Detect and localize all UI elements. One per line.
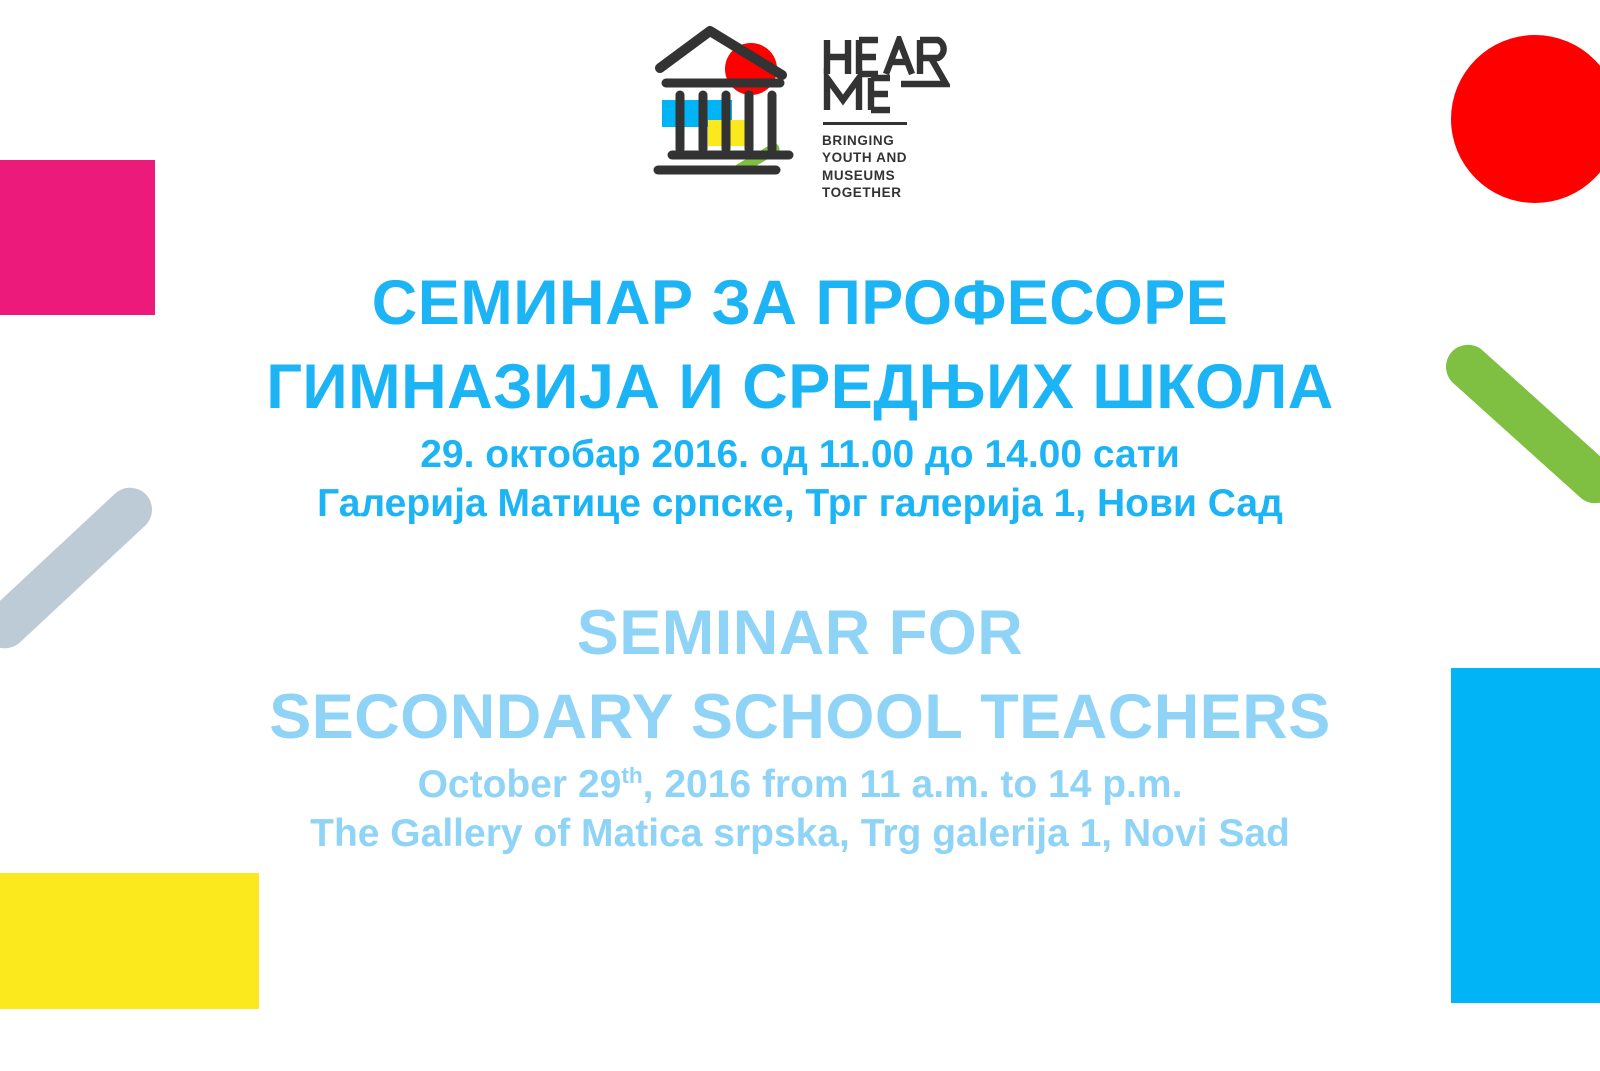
- english-headline-line-2: SECONDARY SCHOOL TEACHERS: [0, 676, 1600, 760]
- logo-tagline-line-4: TOGETHER: [822, 184, 907, 201]
- logo-divider: [823, 122, 907, 125]
- english-date-line: October 29th, 2016 from 11 a.m. to 14 p.…: [0, 760, 1600, 810]
- logo-tagline-line-2: YOUTH AND: [822, 149, 907, 166]
- serbian-headline-line-1: СЕМИНАР ЗА ПРОФЕСОРЕ: [0, 262, 1600, 346]
- logo-tagline: BRINGING YOUTH AND MUSEUMS TOGETHER: [822, 132, 907, 201]
- english-date-ordinal: th: [621, 763, 642, 788]
- poster-canvas: BRINGING YOUTH AND MUSEUMS TOGETHER СЕМИ…: [0, 0, 1600, 1071]
- decorative-yellow-square: [0, 873, 259, 1009]
- logo-tagline-line-3: MUSEUMS: [822, 167, 907, 184]
- hear-me-wordmark: [822, 36, 950, 116]
- hear-me-logo: BRINGING YOUTH AND MUSEUMS TOGETHER: [0, 22, 1600, 201]
- serbian-date-line: 29. октобар 2016. од 11.00 до 14.00 сати: [0, 430, 1600, 480]
- english-date-prefix: October 29: [418, 763, 622, 806]
- logo-tagline-line-1: BRINGING: [822, 132, 907, 149]
- serbian-headline-line-2: ГИМНАЗИЈА И СРЕДЊИХ ШКОЛА: [0, 346, 1600, 430]
- english-venue-line: The Gallery of Matica srpska, Trg galeri…: [0, 809, 1600, 859]
- serbian-text-block: СЕМИНАР ЗА ПРОФЕСОРЕ ГИМНАЗИЈА И СРЕДЊИХ…: [0, 262, 1600, 529]
- english-text-block: SEMINAR FOR SECONDARY SCHOOL TEACHERS Oc…: [0, 592, 1600, 859]
- serbian-venue-line: Галерија Матице српске, Трг галерија 1, …: [0, 479, 1600, 529]
- english-date-suffix: , 2016 from 11 a.m. to 14 p.m.: [643, 763, 1183, 806]
- english-headline-line-1: SEMINAR FOR: [0, 592, 1600, 676]
- museum-building-icon: [650, 22, 800, 177]
